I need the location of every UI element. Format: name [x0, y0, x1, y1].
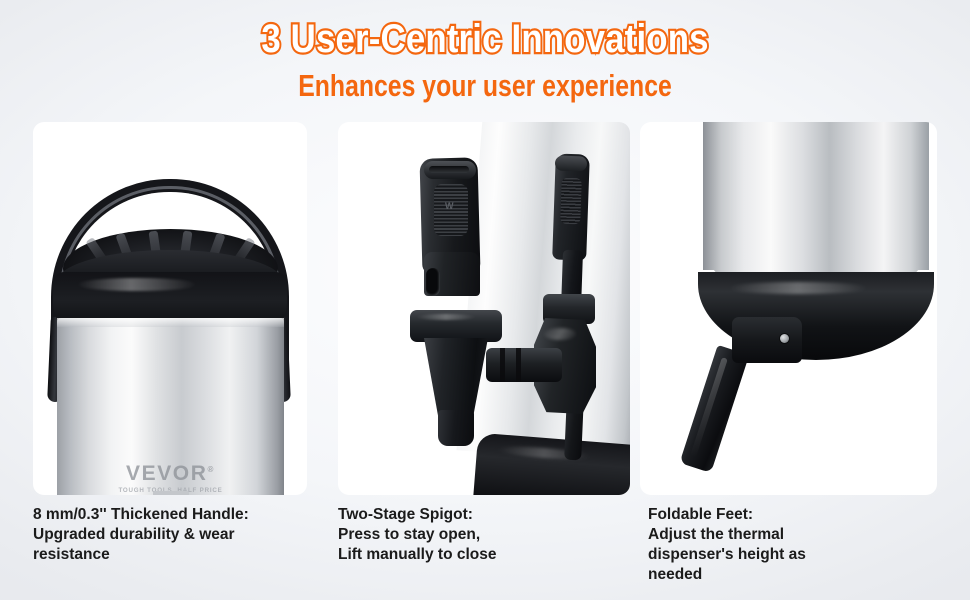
pipe-ring-2 — [516, 348, 521, 382]
product-photo-handle: VEVOR® TOUGH TOOLS, HALF PRICE Technical… — [33, 122, 307, 495]
feature-panel-foldable-feet — [640, 122, 937, 495]
feature-panel-thickened-handle: VEVOR® TOUGH TOOLS, HALF PRICE Technical… — [33, 122, 307, 495]
caption-thickened-handle: 8 mm/0.3'' Thickened Handle: Upgraded du… — [33, 505, 333, 565]
valve-connector-pipe — [486, 348, 562, 382]
banner-header: 3 User-Centric Innovations Enhances your… — [0, 0, 970, 118]
bottom-ring-gloss — [728, 282, 868, 294]
promo-banner: 3 User-Centric Innovations Enhances your… — [0, 0, 970, 600]
rear-lever-grip-ribs — [560, 178, 582, 225]
spigot-spout-tip — [438, 410, 474, 446]
caption-foldable-feet: Foldable Feet: Adjust the thermal dispen… — [648, 505, 948, 585]
lever-marking-w: W — [445, 201, 454, 211]
front-lever-pivot-hole — [426, 268, 440, 296]
pipe-ring-1 — [500, 348, 505, 382]
leg-pivot-screw — [780, 334, 789, 343]
product-photo-spigot: W — [338, 122, 630, 495]
lid-gloss — [77, 278, 197, 291]
dispenser-wall-steel — [456, 122, 630, 464]
leg-hinge-bracket — [732, 317, 802, 363]
page-title: 3 User-Centric Innovations — [63, 17, 907, 61]
page-subtitle: Enhances your user experience — [97, 68, 873, 104]
valve-body-highlight — [416, 314, 476, 320]
body-notch — [153, 491, 189, 495]
dispenser-body-steel — [57, 318, 284, 495]
hex-nut-highlight — [544, 328, 576, 340]
caption-two-stage-spigot: Two-Stage Spigot: Press to stay open, Li… — [338, 505, 638, 565]
body-top-band — [57, 318, 284, 327]
product-photo-foldable-foot — [640, 122, 937, 495]
rear-lever-cap — [555, 155, 588, 171]
feature-panel-two-stage-spigot: W — [338, 122, 630, 495]
front-lever-slot — [429, 166, 469, 173]
dispenser-base-black — [473, 433, 630, 495]
